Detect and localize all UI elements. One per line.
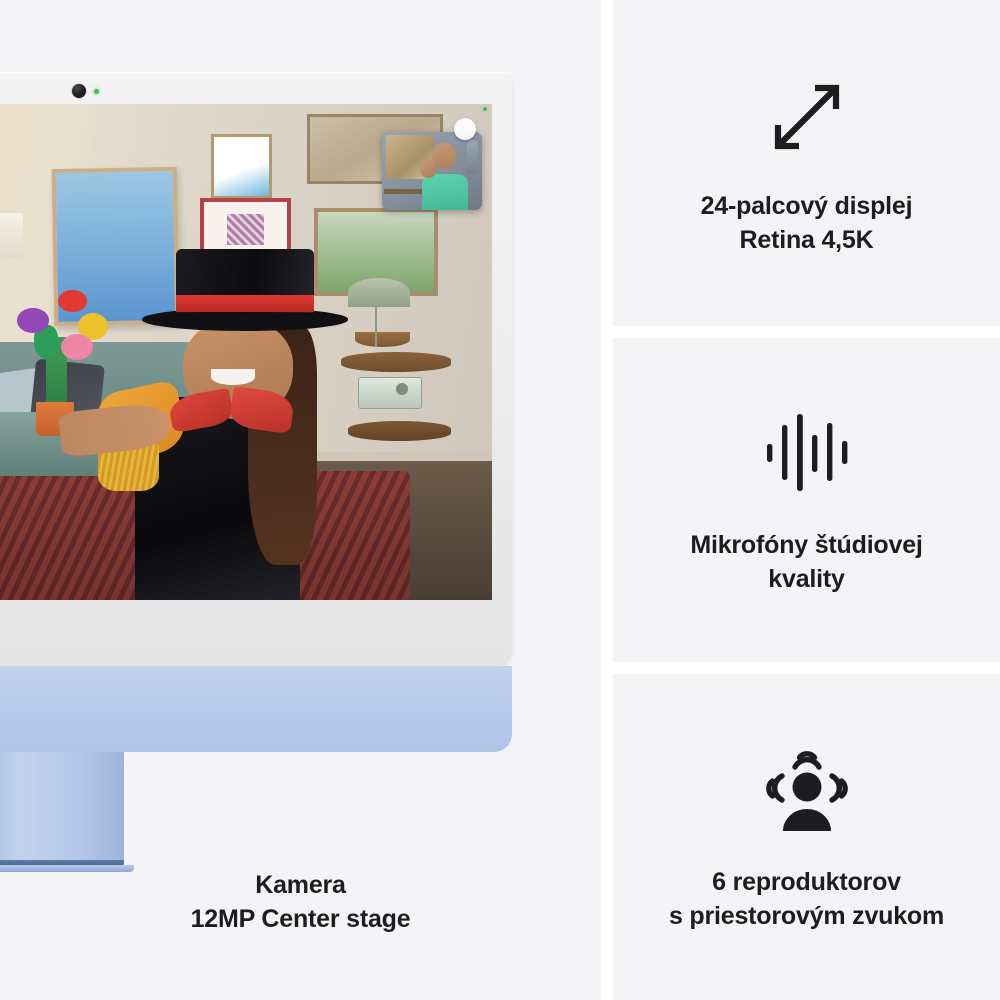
audio-waveform-icon: [761, 404, 853, 500]
pip-lamp: [467, 140, 478, 174]
feature-card-speakers[interactable]: 6 reproduktorov s priestorovým zvukom: [613, 674, 1000, 1000]
scene-artwork-kite: [211, 134, 272, 200]
expand-diagonal-arrows-icon: [764, 69, 850, 165]
feature-card-display[interactable]: 24-palcový displej Retina 4,5K: [613, 0, 1000, 326]
feature-card-microphones[interactable]: Mikrofóny štúdiovej kvality: [613, 338, 1000, 662]
feature-card-column: 24-palcový displej Retina 4,5K Mikrofóny…: [613, 0, 1000, 1000]
scene-side-table-lower: [348, 421, 451, 441]
spatial-audio-person-icon: [761, 741, 853, 837]
product-feature-grid: Kamera 12MP Center stage 24-palcový disp…: [0, 0, 1000, 1000]
scene-fruit-bowl: [355, 332, 410, 347]
camera-lens-icon: [72, 84, 86, 98]
feature-card-display-label: 24-palcový displej Retina 4,5K: [687, 189, 927, 258]
scene-floor-lamp-shade: [0, 213, 23, 258]
scene-side-table-upper: [341, 352, 451, 372]
facetime-control-button[interactable]: [454, 118, 476, 140]
scene-radio: [358, 377, 422, 409]
scene-dome-lamp-stem: [375, 307, 377, 347]
facetime-scene: [0, 104, 492, 600]
imac-screen: [0, 104, 492, 600]
pip-participant-head: [432, 143, 456, 169]
feature-card-microphones-label: Mikrofóny štúdiovej kvality: [676, 528, 936, 597]
scene-child-hat-band: [176, 295, 313, 311]
scene-flower-purple: [17, 308, 49, 333]
screen-corner-indicator-icon: [483, 107, 487, 111]
scene-flower-pink: [61, 334, 93, 360]
scene-dome-lamp: [348, 278, 410, 308]
camera-indicator-light-icon: [94, 89, 99, 94]
pip-participant-body: [422, 174, 468, 210]
imac-device: [0, 72, 512, 802]
imac-display-enclosure: [0, 72, 512, 666]
imac-chin: [0, 666, 512, 752]
facetime-pip-tile[interactable]: [382, 132, 482, 210]
hero-camera-panel: Kamera 12MP Center stage: [0, 0, 601, 1000]
feature-card-speakers-label: 6 reproduktorov s priestorovým zvukom: [655, 865, 958, 934]
hero-caption: Kamera 12MP Center stage: [0, 868, 601, 937]
imac-stand-neck: [0, 752, 124, 865]
